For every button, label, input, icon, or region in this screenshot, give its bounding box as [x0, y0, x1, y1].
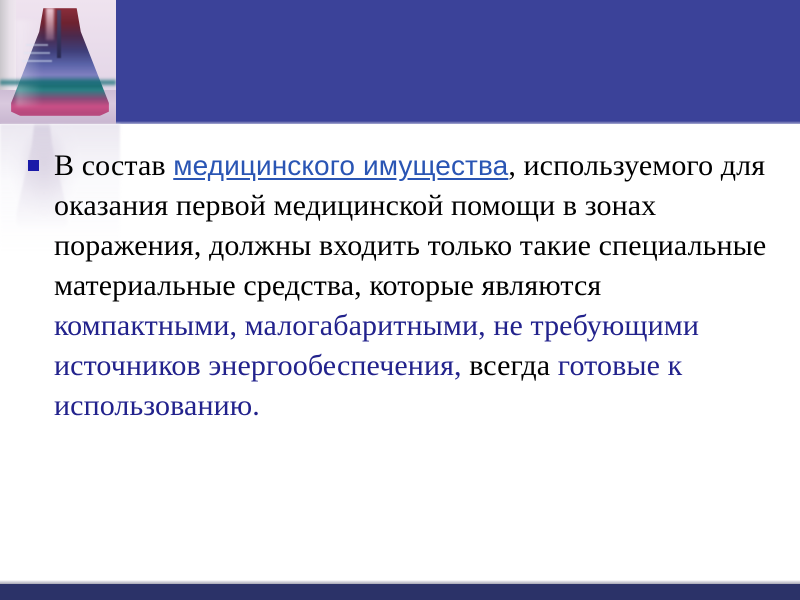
pipette-icon: [57, 10, 61, 58]
flask-neck-highlight: [46, 8, 54, 40]
slide-content: В состав медицинского имущества, использ…: [28, 146, 772, 426]
header-band: [0, 0, 800, 124]
footer-bar: [0, 584, 800, 600]
flask-teal-band: [0, 78, 116, 87]
text-segment-plain-3: всегда: [462, 349, 558, 382]
medical-equipment-link[interactable]: медицинского имущества: [173, 150, 508, 181]
bullet-list-item: В состав медицинского имущества, использ…: [28, 146, 772, 426]
bullet-square-icon: [28, 160, 39, 171]
laboratory-flask-photo: [0, 0, 116, 124]
flask-glass-sheen: [16, 20, 42, 106]
bullet-paragraph: В состав медицинского имущества, использ…: [54, 146, 772, 426]
presentation-slide: В состав медицинского имущества, использ…: [0, 0, 800, 600]
text-segment-plain-1: В состав: [54, 149, 173, 182]
